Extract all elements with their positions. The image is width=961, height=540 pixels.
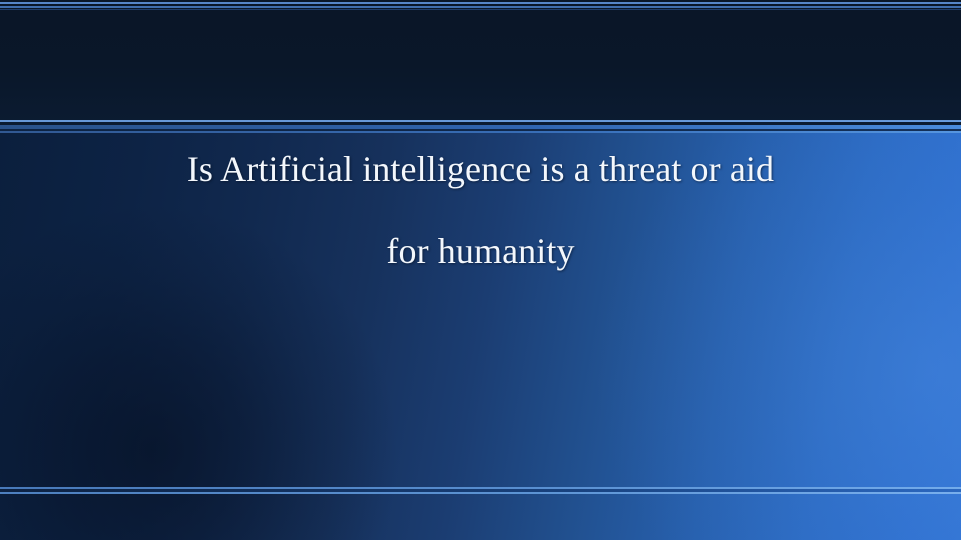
top-accent-rule-secondary bbox=[0, 6, 961, 8]
bottom-rule-lower bbox=[0, 492, 961, 494]
top-accent-rule-primary bbox=[0, 2, 961, 4]
slide-title: Is Artificial intelligence is a threat o… bbox=[0, 128, 961, 292]
top-banner-band bbox=[0, 0, 961, 121]
slide-title-line-2: for humanity bbox=[0, 210, 961, 292]
top-accent-rule-tertiary bbox=[0, 9, 961, 10]
title-slide: Is Artificial intelligence is a threat o… bbox=[0, 0, 961, 540]
slide-title-line-1: Is Artificial intelligence is a threat o… bbox=[0, 128, 961, 210]
